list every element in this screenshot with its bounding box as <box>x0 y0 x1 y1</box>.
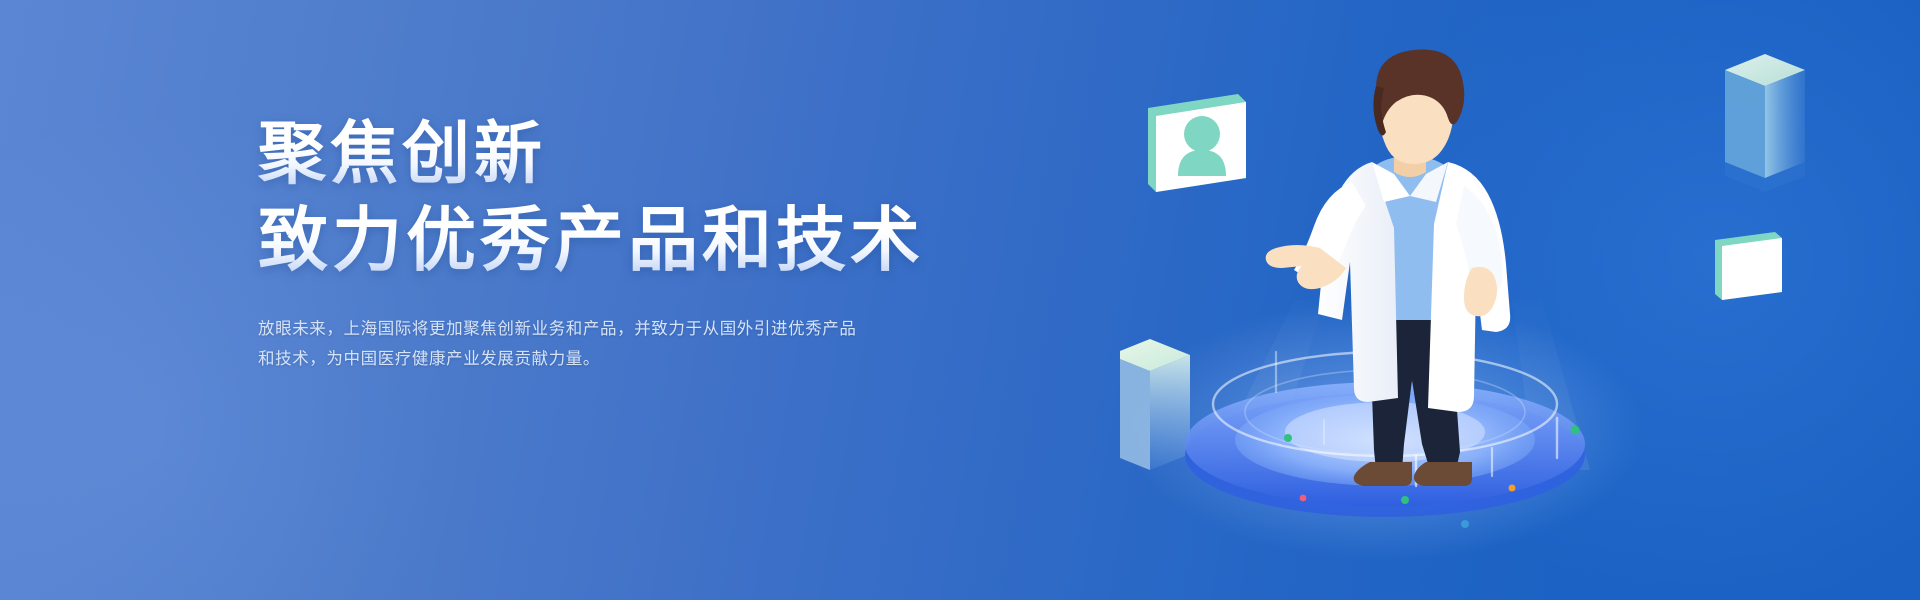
banner-headline-line-2: 致力优秀产品和技术 <box>258 194 978 286</box>
hero-illustration <box>1120 0 1920 600</box>
floating-white-card <box>1715 232 1782 300</box>
doctor-shoe-right <box>1414 462 1472 486</box>
bar-tall <box>1725 54 1805 192</box>
hero-banner: 聚焦创新 致力优秀产品和技术 放眼未来，上海国际将更加聚焦创新业务和产品，并致力… <box>0 0 1920 600</box>
banner-paragraph: 放眼未来，上海国际将更加聚焦创新业务和产品，并致力于从国外引进优秀产品 和技术，… <box>258 314 858 374</box>
banner-paragraph-line-1: 放眼未来，上海国际将更加聚焦创新业务和产品，并致力于从国外引进优秀产品 <box>258 314 858 344</box>
bar-short-visible <box>1120 339 1190 470</box>
profile-card-icon <box>1148 94 1246 192</box>
banner-paragraph-line-2: 和技术，为中国医疗健康产业发展贡献力量。 <box>258 344 858 374</box>
banner-headline-line-1: 聚焦创新 <box>258 108 978 200</box>
banner-text-block: 聚焦创新 致力优秀产品和技术 放眼未来，上海国际将更加聚焦创新业务和产品，并致力… <box>258 108 978 374</box>
